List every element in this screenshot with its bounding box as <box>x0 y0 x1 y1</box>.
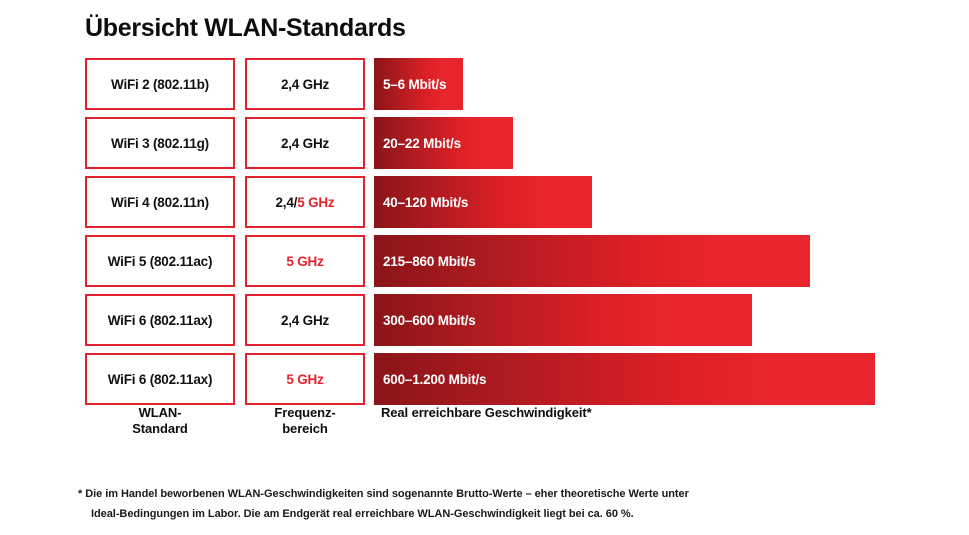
column-header-frequency-line1: Frequenz- <box>245 405 365 421</box>
standard-cell: WiFi 4 (802.11n) <box>85 176 235 228</box>
standard-label: WiFi 6 (802.11ax) <box>108 372 213 387</box>
table-row: WiFi 6 (802.11ax) 5 GHz 600–1.200 Mbit/s <box>0 353 969 405</box>
infographic-canvas: Übersicht WLAN-Standards WiFi 2 (802.11b… <box>0 0 969 535</box>
standard-cell: WiFi 6 (802.11ax) <box>85 353 235 405</box>
column-header-frequency: Frequenz- bereich <box>245 405 365 437</box>
table-row: WiFi 5 (802.11ac) 5 GHz 215–860 Mbit/s <box>0 235 969 287</box>
speed-bar: 5–6 Mbit/s <box>374 58 463 110</box>
frequency-label-red: 5 GHz <box>286 372 323 387</box>
speed-bar: 40–120 Mbit/s <box>374 176 592 228</box>
standard-cell: WiFi 2 (802.11b) <box>85 58 235 110</box>
standards-table: WiFi 2 (802.11b) 2,4 GHz 5–6 Mbit/s WiFi… <box>0 58 969 412</box>
speed-bar: 20–22 Mbit/s <box>374 117 513 169</box>
frequency-cell: 2,4 GHz <box>245 58 365 110</box>
speed-label: 5–6 Mbit/s <box>374 77 446 92</box>
speed-label: 20–22 Mbit/s <box>374 136 461 151</box>
frequency-label-red: 5 GHz <box>297 195 334 210</box>
frequency-cell: 2,4/5 GHz <box>245 176 365 228</box>
standard-label: WiFi 5 (802.11ac) <box>108 254 213 269</box>
standard-cell: WiFi 5 (802.11ac) <box>85 235 235 287</box>
page-title: Übersicht WLAN-Standards <box>85 14 406 43</box>
frequency-cell: 2,4 GHz <box>245 294 365 346</box>
frequency-cell: 5 GHz <box>245 353 365 405</box>
column-header-speed: Real erreichbare Geschwindigkeit* <box>381 405 592 421</box>
frequency-label-dark: 2,4 GHz <box>281 313 329 328</box>
table-row: WiFi 4 (802.11n) 2,4/5 GHz 40–120 Mbit/s <box>0 176 969 228</box>
table-row: WiFi 2 (802.11b) 2,4 GHz 5–6 Mbit/s <box>0 58 969 110</box>
speed-label: 215–860 Mbit/s <box>374 254 476 269</box>
column-header-standard-line1: WLAN- <box>85 405 235 421</box>
table-row: WiFi 6 (802.11ax) 2,4 GHz 300–600 Mbit/s <box>0 294 969 346</box>
standard-label: WiFi 2 (802.11b) <box>111 77 209 92</box>
speed-bar: 215–860 Mbit/s <box>374 235 810 287</box>
speed-label: 300–600 Mbit/s <box>374 313 476 328</box>
table-row: WiFi 3 (802.11g) 2,4 GHz 20–22 Mbit/s <box>0 117 969 169</box>
speed-label: 600–1.200 Mbit/s <box>374 372 486 387</box>
column-header-standard-line2: Standard <box>85 421 235 437</box>
column-header-standard: WLAN- Standard <box>85 405 235 437</box>
footnote-line1: Die im Handel beworbenen WLAN-Geschwindi… <box>85 488 689 500</box>
frequency-label-dark: 2,4 GHz <box>281 136 329 151</box>
standard-label: WiFi 3 (802.11g) <box>111 136 209 151</box>
footnote-line2: Ideal-Bedingungen im Labor. Die am Endge… <box>78 504 838 524</box>
speed-bar: 300–600 Mbit/s <box>374 294 752 346</box>
standard-cell: WiFi 3 (802.11g) <box>85 117 235 169</box>
column-header-frequency-line2: bereich <box>245 421 365 437</box>
frequency-cell: 2,4 GHz <box>245 117 365 169</box>
frequency-label-red: 5 GHz <box>286 254 323 269</box>
frequency-cell: 5 GHz <box>245 235 365 287</box>
footnote: * Die im Handel beworbenen WLAN-Geschwin… <box>78 484 838 524</box>
frequency-label-dark: 2,4 GHz <box>281 77 329 92</box>
frequency-label-dark: 2,4/ <box>276 195 298 210</box>
speed-label: 40–120 Mbit/s <box>374 195 468 210</box>
standard-label: WiFi 6 (802.11ax) <box>108 313 213 328</box>
footnote-asterisk: * <box>78 488 82 500</box>
standard-label: WiFi 4 (802.11n) <box>111 195 209 210</box>
standard-cell: WiFi 6 (802.11ax) <box>85 294 235 346</box>
column-headers: WLAN- Standard Frequenz- bereich Real er… <box>0 405 969 449</box>
speed-bar: 600–1.200 Mbit/s <box>374 353 875 405</box>
